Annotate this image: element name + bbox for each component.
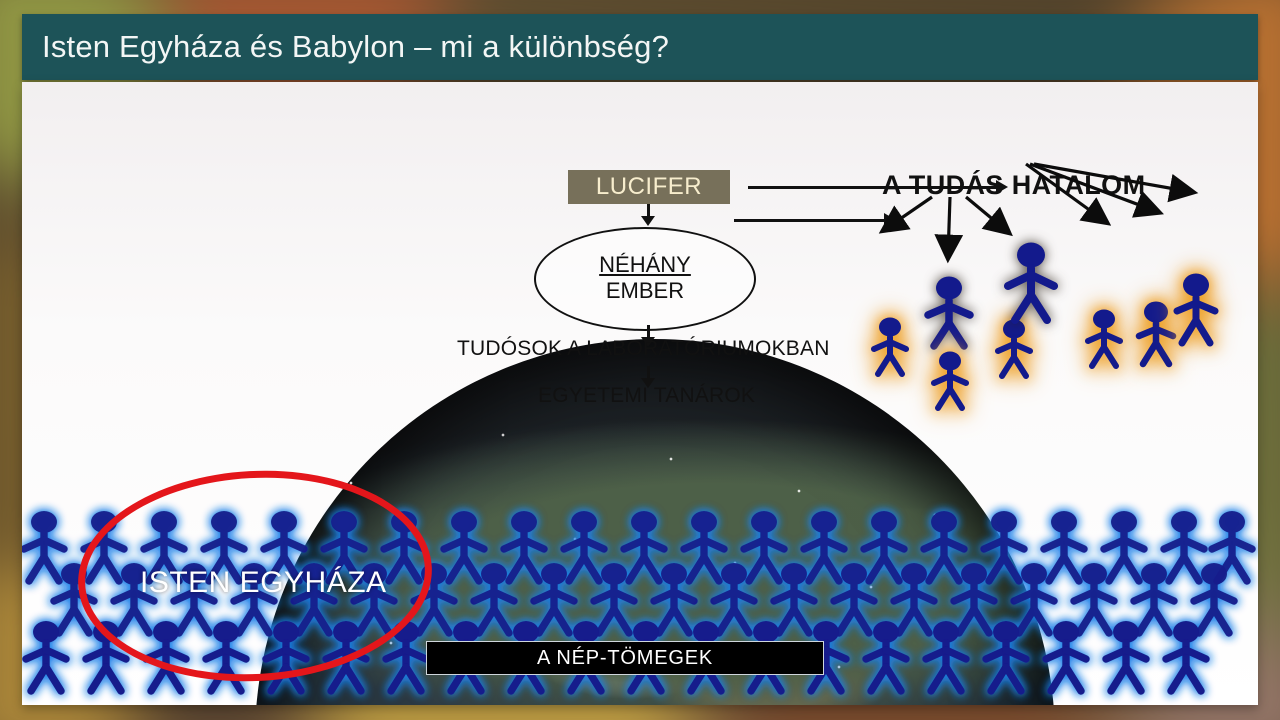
scientists-label: TUDÓSOK A LABORATÓRIUMOKBAN — [457, 337, 830, 361]
lucifer-label: LUCIFER — [596, 173, 702, 201]
elite-figure — [1170, 272, 1222, 348]
ellipse-line-1: NÉHÁNY — [599, 253, 691, 277]
slide-canvas: LUCIFER NÉHÁNY EMBER TUDÓSOK A LABORATÓR… — [22, 82, 1258, 705]
elite-hub-figure — [920, 275, 978, 351]
elite-figure — [1082, 308, 1126, 370]
arrow-lucifer-to-ellipse-head — [641, 216, 655, 226]
masses-label-box: A NÉP-TÖMEGEK — [426, 641, 824, 675]
slide-title-bar: Isten Egyháza és Babylon – mi a különbsé… — [22, 14, 1258, 80]
page-title: Isten Egyháza és Babylon – mi a különbsé… — [22, 29, 669, 65]
ellipse-line-2: EMBER — [606, 277, 684, 306]
lucifer-box: LUCIFER — [568, 170, 730, 204]
professors-label: EGYETEMI TANÁROK — [538, 384, 755, 408]
arrow-ellipse-to-hub-lower-shaft — [734, 219, 886, 222]
church-of-god-label: ISTEN EGYHÁZA — [140, 566, 387, 600]
elite-figure — [868, 316, 912, 378]
masses-label: A NÉP-TÖMEGEK — [537, 647, 713, 670]
elite-figure — [928, 350, 972, 412]
knowledge-is-power-heading: A TUDÁS HATALOM — [882, 170, 1145, 201]
elite-top-hub-figure — [1000, 240, 1062, 326]
few-people-ellipse: NÉHÁNY EMBER — [534, 227, 756, 331]
arrow-ellipse-to-hub-lower-head — [884, 213, 896, 227]
slide-stage: Isten Egyháza és Babylon – mi a különbsé… — [0, 0, 1280, 720]
elite-figure — [992, 318, 1036, 380]
